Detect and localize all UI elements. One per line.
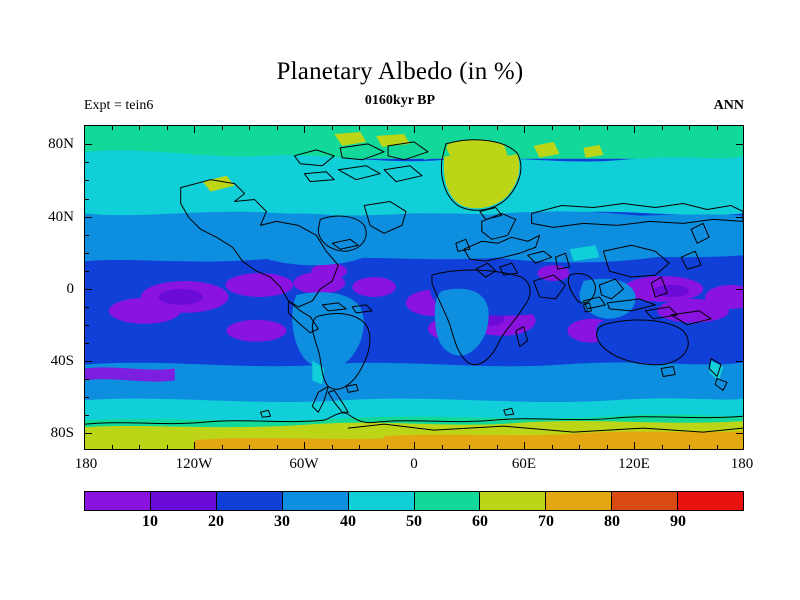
albedo-contour-map xyxy=(85,126,743,449)
xtick-minor xyxy=(277,125,278,130)
ytick-80s-left xyxy=(84,433,92,434)
colorbar-label-60: 60 xyxy=(472,512,488,531)
ytick-minor xyxy=(84,397,89,398)
ytick-minor xyxy=(84,180,89,181)
xtick-minor xyxy=(249,445,250,450)
xtick-minor xyxy=(387,125,388,130)
xtick-minor xyxy=(442,125,443,130)
xtick-60w-top xyxy=(304,125,305,133)
xtick-label-0: 0 xyxy=(410,455,418,473)
xtick-minor xyxy=(222,125,223,130)
xtick-minor xyxy=(359,445,360,450)
ytick-0-left xyxy=(84,289,92,290)
ytick-label-80n: 80N xyxy=(48,137,74,152)
ytick-minor xyxy=(84,162,89,163)
ytick-40n-left xyxy=(84,217,92,218)
xtick-minor xyxy=(139,125,140,130)
ytick-minor xyxy=(84,307,89,308)
xtick-120e-bottom xyxy=(634,442,635,450)
xtick-minor xyxy=(689,125,690,130)
colorbar-swatch-purple xyxy=(151,492,217,510)
figure-canvas: Planetary Albedo (in %) 0160kyr BP Expt … xyxy=(0,0,800,600)
xtick-minor xyxy=(359,125,360,130)
xtick-minor xyxy=(497,125,498,130)
colorbar-swatch-medium-blue xyxy=(283,492,349,510)
xtick-60e-top xyxy=(524,125,525,133)
xtick-0-top xyxy=(414,125,415,133)
xtick-minor xyxy=(689,445,690,450)
xtick-label-180e: 180 xyxy=(731,455,754,473)
colorbar-label-30: 30 xyxy=(274,512,290,531)
xtick-minor xyxy=(277,445,278,450)
colorbar-label-80: 80 xyxy=(604,512,620,531)
colorbar xyxy=(84,491,744,511)
ytick-minor xyxy=(84,253,89,254)
ytick-40s-left xyxy=(84,361,92,362)
xtick-minor xyxy=(139,445,140,450)
xtick-60w-bottom xyxy=(304,442,305,450)
xtick-0-bottom xyxy=(414,442,415,450)
ytick-40n-right xyxy=(736,217,744,218)
colorbar-label-90: 90 xyxy=(670,512,686,531)
xtick-minor xyxy=(387,445,388,450)
xtick-minor xyxy=(469,445,470,450)
colorbar-swatch-red xyxy=(678,492,743,510)
ytick-40s-right xyxy=(736,361,744,362)
xtick-minor xyxy=(167,445,168,450)
ytick-minor xyxy=(84,379,89,380)
xtick-minor xyxy=(112,125,113,130)
colorbar-swatch-cyan xyxy=(349,492,415,510)
colorbar-label-50: 50 xyxy=(406,512,422,531)
colorbar-label-70: 70 xyxy=(538,512,554,531)
colorbar-label-40: 40 xyxy=(340,512,356,531)
xtick-label-120e: 120E xyxy=(618,455,650,473)
colorbar-label-20: 20 xyxy=(208,512,224,531)
xtick-minor xyxy=(497,445,498,450)
xtick-120e-top xyxy=(634,125,635,133)
ytick-80n-left xyxy=(84,144,92,145)
ytick-minor xyxy=(84,235,89,236)
season-label: ANN xyxy=(714,97,744,114)
xtick-minor xyxy=(222,445,223,450)
colorbar-swatch-blue xyxy=(217,492,283,510)
xtick-label-60w: 60W xyxy=(289,455,318,473)
xtick-minor xyxy=(332,125,333,130)
xtick-minor xyxy=(662,125,663,130)
colorbar-swatch-orange-red xyxy=(612,492,678,510)
xtick-label-60e: 60E xyxy=(512,455,536,473)
ytick-minor xyxy=(84,271,89,272)
xtick-minor xyxy=(552,125,553,130)
experiment-label: Expt = tein6 xyxy=(84,97,153,114)
colorbar-swatch-gold xyxy=(546,492,612,510)
xtick-minor xyxy=(717,445,718,450)
xtick-60e-bottom xyxy=(524,442,525,450)
ytick-label-40s: 40S xyxy=(51,354,74,369)
ytick-80n-right xyxy=(736,144,744,145)
xtick-minor xyxy=(607,445,608,450)
xtick-minor xyxy=(662,445,663,450)
xtick-minor xyxy=(607,125,608,130)
xtick-120w-top xyxy=(194,125,195,133)
xtick-minor xyxy=(442,445,443,450)
xtick-minor xyxy=(717,125,718,130)
ytick-minor xyxy=(84,199,89,200)
xtick-minor xyxy=(579,445,580,450)
xtick-minor xyxy=(552,445,553,450)
colorbar-swatch-yellow-green xyxy=(480,492,546,510)
colorbar-swatch-violet xyxy=(85,492,151,510)
colorbar-swatch-spring-green xyxy=(415,492,481,510)
page-title: Planetary Albedo (in %) xyxy=(0,57,800,87)
ytick-0-right xyxy=(736,289,744,290)
ytick-label-0: 0 xyxy=(67,282,75,297)
xtick-label-180w: 180 xyxy=(75,455,98,473)
xtick-minor xyxy=(167,125,168,130)
ytick-80s-right xyxy=(736,433,744,434)
ytick-minor xyxy=(84,415,89,416)
xtick-minor xyxy=(249,125,250,130)
xtick-minor xyxy=(112,445,113,450)
xtick-120w-bottom xyxy=(194,442,195,450)
xtick-minor xyxy=(469,125,470,130)
xtick-minor xyxy=(579,125,580,130)
map-plot-area xyxy=(84,125,744,450)
colorbar-label-10: 10 xyxy=(142,512,158,531)
ytick-label-80s: 80S xyxy=(51,426,74,441)
ytick-minor xyxy=(84,343,89,344)
xtick-label-120w: 120W xyxy=(176,455,213,473)
ytick-label-40n: 40N xyxy=(48,210,74,225)
xtick-minor xyxy=(332,445,333,450)
ytick-minor xyxy=(84,325,89,326)
